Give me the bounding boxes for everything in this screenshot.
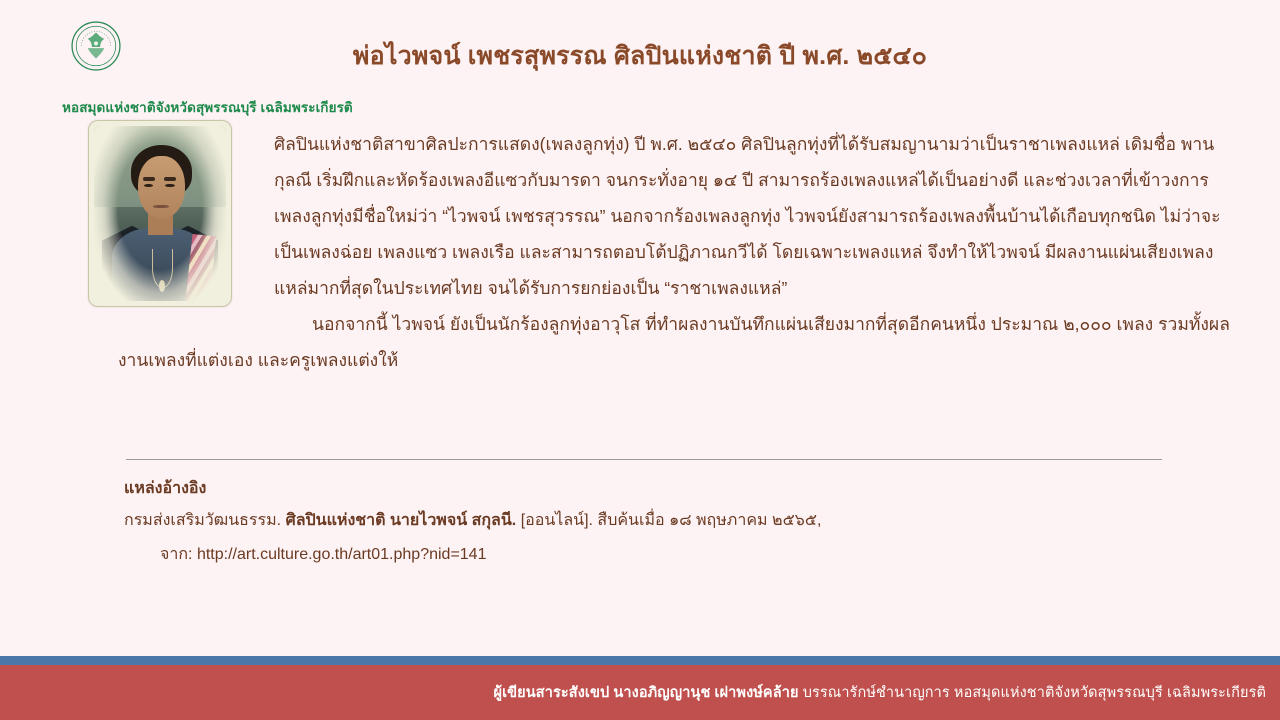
footer-bar: ผู้เขียนสาระสังเขป นางอภิญญานุช เผ่าพงษ์… (0, 665, 1280, 720)
biography-paragraph-1: ศิลปินแห่งชาติสาขาศิลปะการแสดง(เพลงลูกทุ… (118, 126, 1232, 306)
footer-author: ผู้เขียนสาระสังเขป นางอภิญญานุช เผ่าพงษ์… (494, 685, 799, 701)
portrait-text-wrap-spacer (118, 126, 274, 311)
biography-paragraph-2: นอกจากนี้ ไวพจน์ ยังเป็นนักร้องลูกทุ่งอา… (118, 306, 1232, 378)
footer-credit-text: ผู้เขียนสาระสังเขป นางอภิญญานุช เผ่าพงษ์… (494, 681, 1266, 704)
slide-canvas: หอสมุดแห่งชาติจังหวัดสุพรรณบุรี เฉลิมพระ… (0, 0, 1280, 720)
page-title: พ่อไวพจน์ เพชรสุพรรณ ศิลปินแห่งชาติ ปี พ… (0, 36, 1280, 76)
section-divider (126, 459, 1162, 460)
reference-citation-line: กรมส่งเสริมวัฒนธรรม. ศิลปินแห่งชาติ นายไ… (124, 504, 1174, 538)
biography-paragraph-1-text: ศิลปินแห่งชาติสาขาศิลปะการแสดง(เพลงลูกทุ… (274, 134, 1220, 298)
reference-url[interactable]: จาก: http://art.culture.go.th/art01.php?… (124, 538, 1174, 572)
reference-title: ศิลปินแห่งชาติ นายไวพจน์ สกุลนี. (286, 512, 517, 529)
reference-publisher: กรมส่งเสริมวัฒนธรรม. (124, 512, 281, 529)
reference-retrieved: [ออนไลน์]. สืบค้นเมื่อ ๑๘ พฤษภาคม ๒๕๖๕, (521, 512, 822, 529)
body-text-block: ศิลปินแห่งชาติสาขาศิลปะการแสดง(เพลงลูกทุ… (118, 126, 1232, 378)
library-name-label: หอสมุดแห่งชาติจังหวัดสุพรรณบุรี เฉลิมพระ… (62, 96, 353, 118)
reference-heading: แหล่งอ้างอิง (124, 474, 1174, 504)
footer-accent-bar (0, 656, 1280, 665)
reference-section: แหล่งอ้างอิง กรมส่งเสริมวัฒนธรรม. ศิลปิน… (124, 474, 1174, 572)
footer-role: บรรณารักษ์ชำนาญการ หอสมุดแห่งชาติจังหวัด… (803, 685, 1266, 701)
